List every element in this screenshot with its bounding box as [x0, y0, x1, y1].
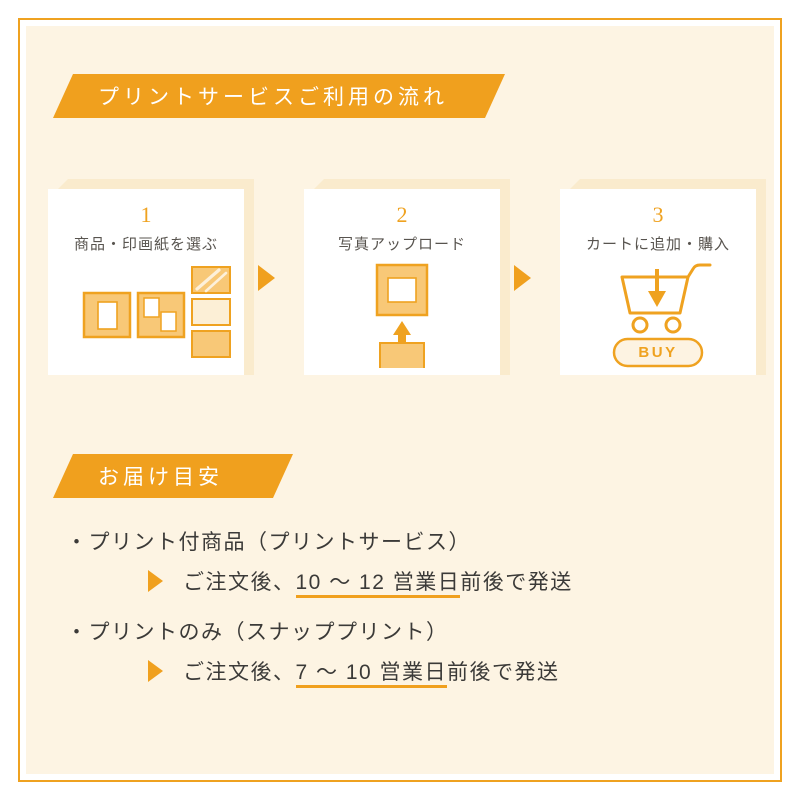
- infographic-page: プリントサービスご利用の流れ 1 商品・印画紙を選ぶ: [0, 0, 800, 800]
- buy-button-label[interactable]: BUY: [614, 339, 702, 366]
- flow-section-title: プリントサービスご利用の流れ: [98, 81, 448, 111]
- step-cards-row: 1 商品・印画紙を選ぶ: [26, 171, 774, 386]
- delivery-item: ・プリントのみ（スナッププリント） ご注文後、7 〜 10 営業日前後で発送: [66, 616, 736, 686]
- shopping-cart-icon: BUY: [560, 263, 756, 368]
- delivery-section-title: お届け目安: [98, 461, 223, 491]
- card-face: 2 写真アップロード: [304, 189, 500, 375]
- step-number: 1: [48, 202, 244, 228]
- detail-prefix: ご注文後、: [183, 661, 296, 684]
- step-label: カートに追加・購入: [560, 233, 756, 254]
- delivery-duration-highlight: 7 〜 10 営業日: [296, 661, 448, 688]
- photo-upload-icon: [304, 263, 500, 368]
- triangle-right-icon: [148, 660, 163, 682]
- delivery-section-banner: お届け目安: [53, 454, 293, 498]
- detail-suffix: 前後で発送: [460, 571, 573, 594]
- triangle-right-icon: [148, 570, 163, 592]
- triangle-right-icon: [514, 265, 531, 291]
- step-card-1[interactable]: 1 商品・印画紙を選ぶ: [48, 179, 244, 375]
- delivery-item-detail: ご注文後、10 〜 12 営業日前後で発送: [66, 566, 736, 596]
- step-card-2[interactable]: 2 写真アップロード: [304, 179, 500, 375]
- step-card-3[interactable]: 3 カートに追加・購入: [560, 179, 756, 375]
- delivery-item-title: ・プリントのみ（スナッププリント）: [66, 616, 736, 646]
- flow-section-banner: プリントサービスご利用の流れ: [53, 74, 505, 118]
- card-face: 3 カートに追加・購入: [560, 189, 756, 375]
- detail-prefix: ご注文後、: [183, 571, 296, 594]
- content-canvas: プリントサービスご利用の流れ 1 商品・印画紙を選ぶ: [26, 26, 774, 774]
- card-face: 1 商品・印画紙を選ぶ: [48, 189, 244, 375]
- delivery-item-title: ・プリント付商品（プリントサービス）: [66, 526, 736, 556]
- delivery-estimate-list: ・プリント付商品（プリントサービス） ご注文後、10 〜 12 営業日前後で発送…: [66, 526, 736, 706]
- frames-and-paper-icon: [48, 263, 244, 368]
- delivery-detail-text: ご注文後、10 〜 12 営業日前後で発送: [183, 566, 573, 596]
- step-label: 商品・印画紙を選ぶ: [48, 233, 244, 254]
- delivery-detail-text: ご注文後、7 〜 10 営業日前後で発送: [183, 656, 560, 686]
- step-number: 2: [304, 202, 500, 228]
- step-number: 3: [560, 202, 756, 228]
- delivery-duration-highlight: 10 〜 12 営業日: [296, 571, 461, 598]
- detail-suffix: 前後で発送: [447, 661, 560, 684]
- triangle-right-icon: [258, 265, 275, 291]
- delivery-item: ・プリント付商品（プリントサービス） ご注文後、10 〜 12 営業日前後で発送: [66, 526, 736, 596]
- delivery-item-detail: ご注文後、7 〜 10 営業日前後で発送: [66, 656, 736, 686]
- step-label: 写真アップロード: [304, 233, 500, 254]
